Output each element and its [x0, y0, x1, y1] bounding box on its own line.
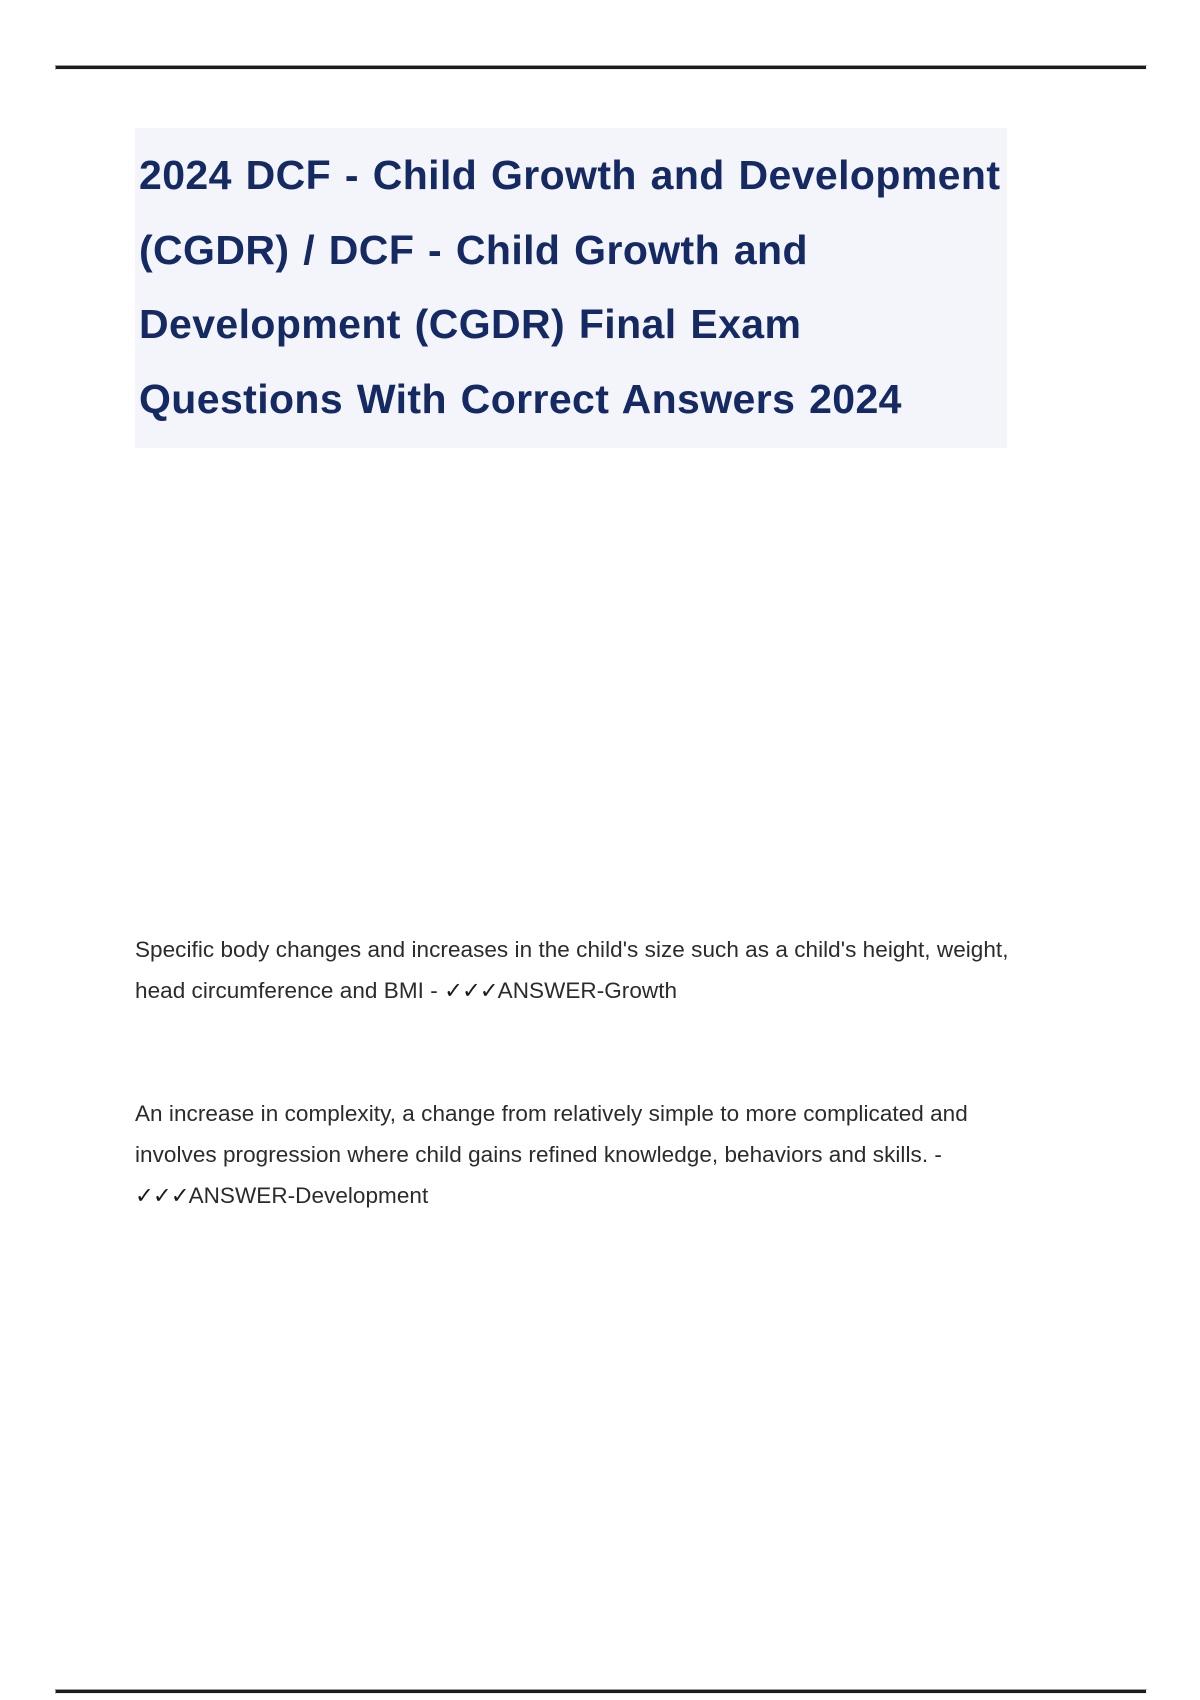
answer-checkmarks-2: ✓✓✓ — [135, 1183, 189, 1209]
page-title: 2024 DCF - Child Growth and Development … — [135, 138, 1007, 436]
document-title-block: 2024 DCF - Child Growth and Development … — [135, 128, 1007, 448]
qa-entry-2: An increase in complexity, a change from… — [135, 1094, 1015, 1217]
bottom-divider-rule — [55, 1689, 1147, 1694]
answer-text-2: ANSWER-Development — [189, 1183, 429, 1208]
top-divider-rule — [55, 65, 1147, 70]
question-text-2: An increase in complexity, a change from… — [135, 1101, 968, 1167]
document-page: 2024 DCF - Child Growth and Development … — [0, 0, 1200, 1700]
answer-text-1: ANSWER-Growth — [498, 978, 677, 1003]
answer-checkmarks-1: ✓✓✓ — [444, 978, 498, 1004]
qa-entry-1: Specific body changes and increases in t… — [135, 930, 1015, 1012]
document-body: Specific body changes and increases in t… — [135, 930, 1015, 1217]
